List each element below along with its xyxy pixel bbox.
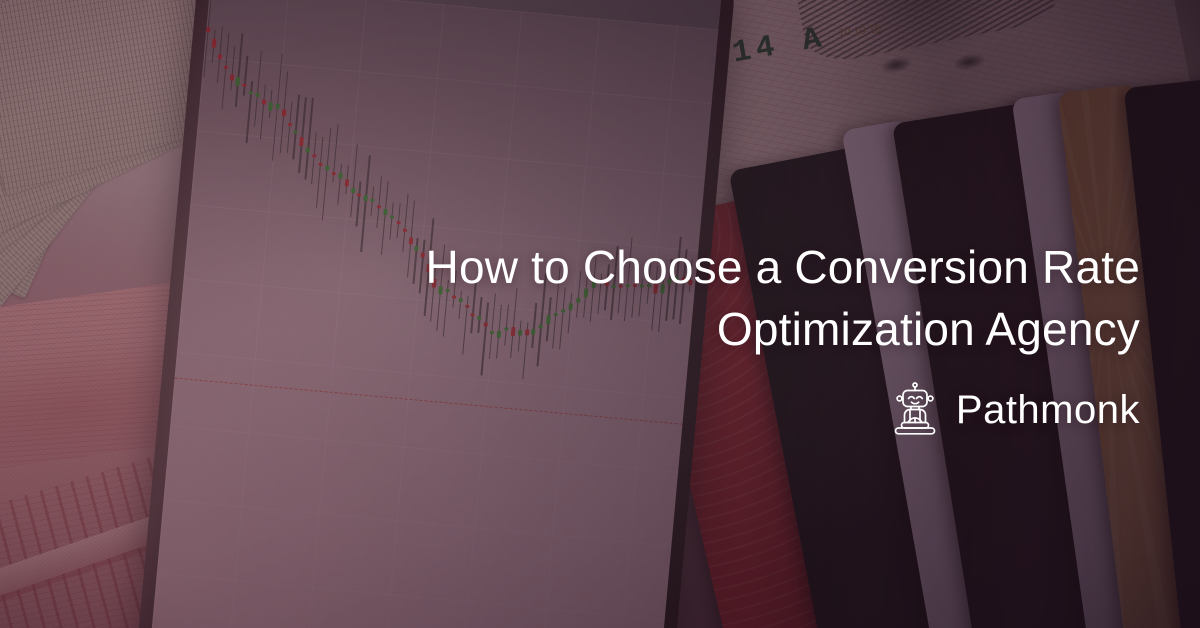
title-line-2: Optimization Agency <box>420 298 1140 360</box>
brand-name: Pathmonk <box>956 388 1140 433</box>
page-title: How to Choose a Conversion Rate Optimiza… <box>420 236 1140 360</box>
banner-content: How to Choose a Conversion Rate Optimiza… <box>420 236 1140 438</box>
meditating-robot-icon <box>890 382 940 438</box>
title-line-1: How to Choose a Conversion Rate <box>420 236 1140 298</box>
share-banner: UNITED STATES UNITED STATES 427214 A 10 … <box>0 0 1200 628</box>
brand-lockup: Pathmonk <box>420 382 1140 438</box>
